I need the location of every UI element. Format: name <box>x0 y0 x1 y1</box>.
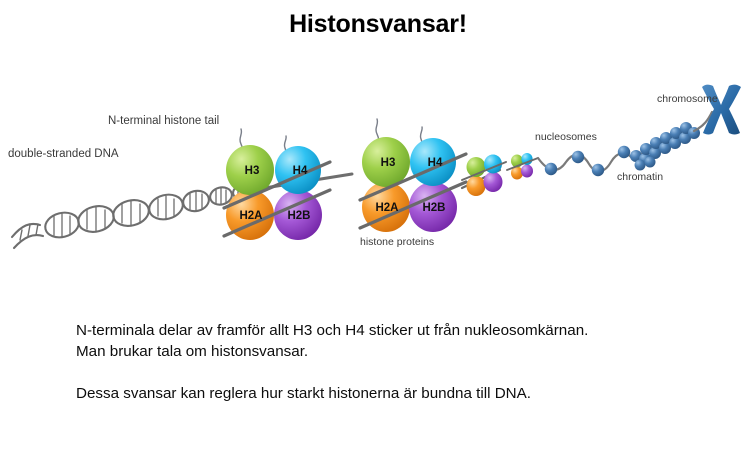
chromatin-cluster <box>630 112 712 171</box>
nucleosome-bead <box>592 164 604 176</box>
label-double-stranded-dna: double-stranded DNA <box>8 148 119 160</box>
histone-label-h2a-1: H2A <box>239 210 262 222</box>
label-chromatin: chromatin <box>617 171 663 183</box>
label-histone-proteins: histone proteins <box>360 236 434 248</box>
label-nucleosomes: nucleosomes <box>535 131 597 143</box>
histone-octamer-small-1 <box>462 155 506 197</box>
double-stranded-dna-helix <box>12 183 252 248</box>
histone-label-h2a-2: H2A <box>375 202 398 214</box>
body-paragraph-2: Dessa svansar kan reglera hur starkt his… <box>76 383 716 404</box>
nucleosome-bead <box>572 151 584 163</box>
chromatin-bead <box>635 160 646 171</box>
label-n-terminal-histone-tail: N-terminal histone tail <box>108 115 219 127</box>
histone-octamer-1: H3 H4 H2A H2B <box>224 129 330 240</box>
label-chromosome: chromosome <box>657 93 718 105</box>
histone-label-h2b-2: H2B <box>422 202 445 214</box>
nucleosome-bead <box>545 163 557 175</box>
histone-label-h4-2: H4 <box>428 157 443 169</box>
paragraph-spacer <box>76 362 716 383</box>
nucleosome-bead <box>618 146 630 158</box>
histone-label-h2b-1: H2B <box>287 210 310 222</box>
dna-packaging-diagram: H3 H4 H2A H2B H3 H4 H2A H2B <box>0 62 756 277</box>
chromatin-bead <box>645 157 656 168</box>
page-title: Histonsvansar! <box>0 10 756 39</box>
body-text-block: N-terminala delar av framför allt H3 och… <box>76 320 716 404</box>
body-paragraph-1-line-2: Man brukar tala om histonsvansar. <box>76 341 716 362</box>
histone-label-h4-1: H4 <box>293 165 308 177</box>
histone-octamer-2: H3 H4 H2A H2B <box>360 119 466 232</box>
body-paragraph-1-line-1: N-terminala delar av framför allt H3 och… <box>76 320 716 341</box>
histone-label-h3-2: H3 <box>381 157 396 169</box>
histone-label-h3-1: H3 <box>245 165 260 177</box>
histone-octamer-small-2 <box>507 153 538 180</box>
